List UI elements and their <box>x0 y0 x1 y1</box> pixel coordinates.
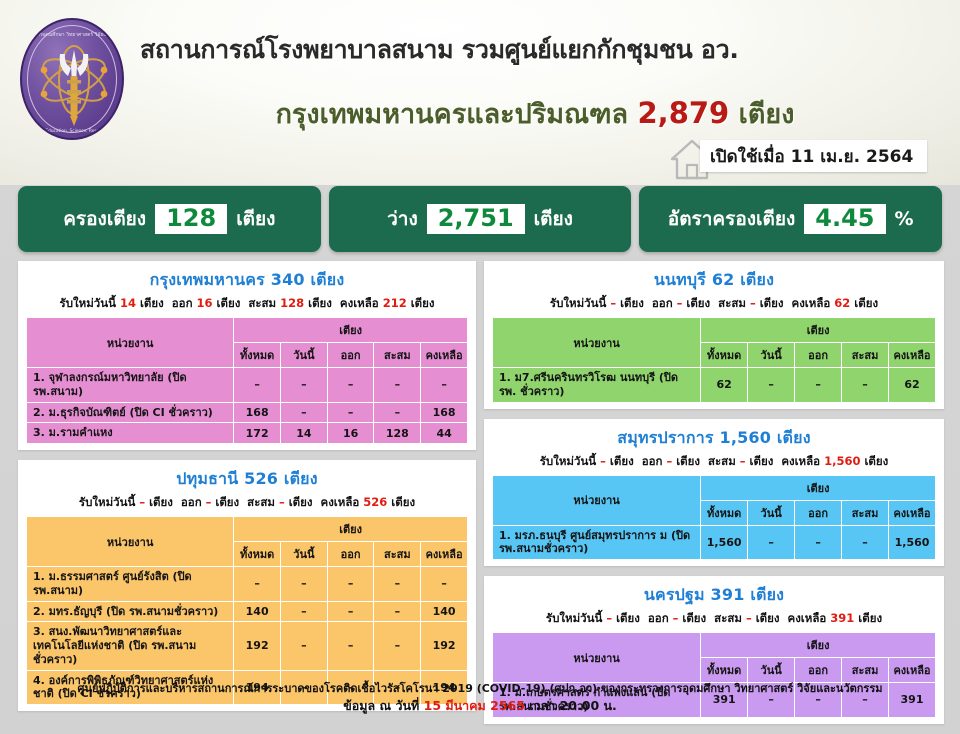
row-beds-today: 14 <box>281 423 328 444</box>
row-beds-today: – <box>281 567 328 602</box>
province-title-pathumthani: ปทุมธานี 526 เตียง <box>26 464 468 494</box>
row-beds-cum: – <box>374 601 421 622</box>
province-title-samutprakan: สมุทรปราการ 1,560 เตียง <box>492 423 936 453</box>
summary-left-nakhonpathom: คงเหลือ 391 เตียง <box>788 611 883 625</box>
col-subheader-1: วันนี้ <box>748 500 795 525</box>
page-title: สถานการณ์โรงพยาบาลสนาม รวมศูนย์แยกกักชุม… <box>140 30 940 70</box>
summary-out-nakhonpathom: ออก – เตียง <box>648 611 706 625</box>
row-beds-left: 192 <box>421 622 468 670</box>
row-beds-out: – <box>327 622 374 670</box>
row-beds-today: – <box>281 368 328 403</box>
row-beds-left: 140 <box>421 601 468 622</box>
col-subheader-2: ออก <box>795 500 842 525</box>
col-header-beds: เตียง <box>234 318 468 343</box>
summary-left-samutprakan: คงเหลือ 1,560 เตียง <box>781 454 888 468</box>
row-unit-name: 2. ม.ธุรกิจบัณฑิตย์ (ปิด CI ชั่วคราว) <box>27 402 234 423</box>
row-beds-all: 62 <box>701 368 748 403</box>
table-row: 1. ม.ธรรมศาสตร์ ศูนย์รังสิต (ปิด รพ.สนาม… <box>27 567 468 602</box>
row-beds-all: 140 <box>234 601 281 622</box>
svg-text:กระทรวงการอุดมศึกษา วิทยาศาสตร: กระทรวงการอุดมศึกษา วิทยาศาสตร์ วิจัยและ… <box>22 31 124 38</box>
col-header-beds: เตียง <box>701 475 936 500</box>
summary-new-nonthaburi: รับใหม่วันนี้ – เตียง <box>550 296 644 310</box>
col-subheader-2: ออก <box>795 658 842 683</box>
province-column-right: นนทบุรี 62 เตียงรับใหม่วันนี้ – เตียงออก… <box>484 261 944 734</box>
province-summary-nakhonpathom: รับใหม่วันนี้ – เตียงออก – เตียงสะสม – เ… <box>492 610 936 632</box>
row-beds-left: 62 <box>889 368 936 403</box>
subtitle-bed-count: 2,879 <box>638 96 730 130</box>
summary-out-samutprakan: ออก – เตียง <box>642 454 700 468</box>
summary-cum-pathumthani: สะสม – เตียง <box>247 495 312 509</box>
row-unit-name: 3. ม.รามคำแหง <box>27 423 234 444</box>
stat-rate-label: อัตราครองเตียง <box>668 204 795 234</box>
province-summary-samutprakan: รับใหม่วันนี้ – เตียงออก – เตียงสะสม – เ… <box>492 453 936 475</box>
table-row: 3. สนง.พัฒนาวิทยาศาสตร์และเทคโนโลยีแห่งช… <box>27 622 468 670</box>
row-beds-out: – <box>327 402 374 423</box>
footer-time-value: เวลา 20.00 น. <box>529 698 617 713</box>
subtitle-total-beds: กรุงเทพมหานครและปริมณฑล 2,879 เตียง <box>140 92 930 135</box>
svg-text:Ministry of Higher Education,: Ministry of Higher Education, Science, R… <box>22 128 124 134</box>
stat-available-unit: เตียง <box>534 204 573 234</box>
row-beds-left: – <box>421 368 468 403</box>
summary-out-nonthaburi: ออก – เตียง <box>652 296 710 310</box>
col-subheader-1: วันนี้ <box>748 343 795 368</box>
row-beds-out: – <box>327 567 374 602</box>
stat-available-beds: ว่าง 2,751 เตียง <box>329 186 632 252</box>
summary-new-pathumthani: รับใหม่วันนี้ – เตียง <box>79 495 173 509</box>
stat-occupied-beds: ครองเตียง 128 เตียง <box>18 186 321 252</box>
row-beds-left: 1,560 <box>889 525 936 560</box>
province-title-bangkok: กรุงเทพมหานคร 340 เตียง <box>26 265 468 295</box>
province-card-nonthaburi: นนทบุรี 62 เตียงรับใหม่วันนี้ – เตียงออก… <box>484 261 944 409</box>
summary-left-pathumthani: คงเหลือ 526 เตียง <box>321 495 416 509</box>
col-subheader-2: ออก <box>327 343 374 368</box>
stat-rate-unit: % <box>895 208 914 230</box>
summary-left-bangkok: คงเหลือ 212 เตียง <box>340 296 435 310</box>
bed-table-pathumthani: หน่วยงานเตียงทั้งหมดวันนี้ออกสะสมคงเหลือ… <box>26 516 468 705</box>
col-subheader-1: วันนี้ <box>748 658 795 683</box>
footer-data-timestamp: ข้อมูล ณ วันที่ 15 มีนาคม 2565 เวลา 20.0… <box>0 697 960 716</box>
row-beds-cum: 128 <box>374 423 421 444</box>
summary-new-nakhonpathom: รับใหม่วันนี้ – เตียง <box>546 611 640 625</box>
col-subheader-3: สะสม <box>842 343 889 368</box>
summary-out-pathumthani: ออก – เตียง <box>181 495 239 509</box>
province-summary-bangkok: รับใหม่วันนี้ 14 เตียงออก 16 เตียงสะสม 1… <box>26 295 468 317</box>
row-beds-left: 44 <box>421 423 468 444</box>
province-card-pathumthani: ปทุมธานี 526 เตียงรับใหม่วันนี้ – เตียงอ… <box>18 460 476 711</box>
subtitle-region-label: กรุงเทพมหานครและปริมณฑล <box>276 99 629 130</box>
col-subheader-0: ทั้งหมด <box>234 343 281 368</box>
row-beds-all: 1,560 <box>701 525 748 560</box>
row-beds-out: 16 <box>327 423 374 444</box>
row-beds-cum: – <box>374 402 421 423</box>
row-beds-today: – <box>281 622 328 670</box>
table-row: 2. มทร.ธัญบุรี (ปิด รพ.สนามชั่วคราว)140–… <box>27 601 468 622</box>
row-beds-out: – <box>327 601 374 622</box>
col-subheader-3: สะสม <box>374 343 421 368</box>
stat-available-value: 2,751 <box>427 204 525 234</box>
summary-stats-row: ครองเตียง 128 เตียง ว่าง 2,751 เตียง อัต… <box>0 186 960 252</box>
col-header-beds: เตียง <box>234 517 468 542</box>
col-subheader-0: ทั้งหมด <box>701 343 748 368</box>
row-unit-name: 1. ม.ธรรมศาสตร์ ศูนย์รังสิต (ปิด รพ.สนาม… <box>27 567 234 602</box>
col-subheader-0: ทั้งหมด <box>701 658 748 683</box>
col-header-unit: หน่วยงาน <box>493 318 701 368</box>
row-beds-left: 168 <box>421 402 468 423</box>
col-subheader-0: ทั้งหมด <box>701 500 748 525</box>
row-beds-cum: – <box>374 368 421 403</box>
col-subheader-4: คงเหลือ <box>889 500 936 525</box>
open-date-text: เปิดใช้เมื่อ 11 เม.ย. 2564 <box>710 143 913 170</box>
col-header-unit: หน่วยงาน <box>27 517 234 567</box>
col-subheader-0: ทั้งหมด <box>234 542 281 567</box>
dashboard-page: กระทรวงการอุดมศึกษา วิทยาศาสตร์ วิจัยและ… <box>0 0 960 720</box>
table-row: 1. มรภ.ธนบุรี ศูนย์สมุทรปราการ ม (ปิด รพ… <box>493 525 936 560</box>
table-row: 1. จุฬาลงกรณ์มหาวิทยาลัย (ปิด รพ.สนาม)––… <box>27 368 468 403</box>
stat-occupied-unit: เตียง <box>236 204 275 234</box>
table-row: 3. ม.รามคำแหง172141612844 <box>27 423 468 444</box>
bed-table-nonthaburi: หน่วยงานเตียงทั้งหมดวันนี้ออกสะสมคงเหลือ… <box>492 317 936 403</box>
col-subheader-1: วันนี้ <box>281 542 328 567</box>
summary-cum-nonthaburi: สะสม – เตียง <box>718 296 783 310</box>
summary-left-nonthaburi: คงเหลือ 62 เตียง <box>792 296 879 310</box>
col-header-unit: หน่วยงาน <box>27 318 234 368</box>
province-summary-pathumthani: รับใหม่วันนี้ – เตียงออก – เตียงสะสม – เ… <box>26 494 468 516</box>
col-subheader-2: ออก <box>795 343 842 368</box>
summary-new-samutprakan: รับใหม่วันนี้ – เตียง <box>540 454 634 468</box>
summary-cum-nakhonpathom: สะสม – เตียง <box>714 611 779 625</box>
footer-date-prefix: ข้อมูล ณ วันที่ <box>343 698 419 713</box>
table-row: 1. ม7.ศรีนครินทรวิโรฒ นนทบุรี (ปิด รพ. ช… <box>493 368 936 403</box>
row-unit-name: 2. มทร.ธัญบุรี (ปิด รพ.สนามชั่วคราว) <box>27 601 234 622</box>
province-card-bangkok: กรุงเทพมหานคร 340 เตียงรับใหม่วันนี้ 14 … <box>18 261 476 450</box>
header-banner: กระทรวงการอุดมศึกษา วิทยาศาสตร์ วิจัยและ… <box>0 0 960 185</box>
col-header-beds: เตียง <box>701 633 936 658</box>
row-beds-today: – <box>281 601 328 622</box>
summary-cum-samutprakan: สะสม – เตียง <box>708 454 773 468</box>
col-subheader-3: สะสม <box>842 500 889 525</box>
bed-table-bangkok: หน่วยงานเตียงทั้งหมดวันนี้ออกสะสมคงเหลือ… <box>26 317 468 444</box>
row-beds-all: – <box>234 567 281 602</box>
row-beds-cum: – <box>374 622 421 670</box>
summary-out-bangkok: ออก 16 เตียง <box>172 296 241 310</box>
row-beds-today: – <box>748 525 795 560</box>
footer-agency-line: ศูนย์ปฏิบัติการและบริหารสถานการณ์การระบา… <box>0 681 960 697</box>
row-unit-name: 1. มรภ.ธนบุรี ศูนย์สมุทรปราการ ม (ปิด รพ… <box>493 525 701 560</box>
stat-available-label: ว่าง <box>387 204 418 234</box>
subtitle-bed-unit: เตียง <box>739 99 795 130</box>
row-beds-out: – <box>327 368 374 403</box>
row-beds-today: – <box>281 402 328 423</box>
open-date-badge: เปิดใช้เมื่อ 11 เม.ย. 2564 <box>700 140 927 172</box>
col-header-beds: เตียง <box>701 318 936 343</box>
col-subheader-4: คงเหลือ <box>421 343 468 368</box>
row-beds-cum: – <box>842 368 889 403</box>
col-subheader-1: วันนี้ <box>281 343 328 368</box>
row-beds-cum: – <box>374 567 421 602</box>
col-header-unit: หน่วยงาน <box>493 633 701 683</box>
col-header-unit: หน่วยงาน <box>493 475 701 525</box>
footer: ศูนย์ปฏิบัติการและบริหารสถานการณ์การระบา… <box>0 681 960 716</box>
mhesi-ministry-emblem: กระทรวงการอุดมศึกษา วิทยาศาสตร์ วิจัยและ… <box>20 18 124 140</box>
table-row: 2. ม.ธุรกิจบัณฑิตย์ (ปิด CI ชั่วคราว)168… <box>27 402 468 423</box>
row-beds-cum: – <box>842 525 889 560</box>
summary-cum-bangkok: สะสม 128 เตียง <box>248 296 332 310</box>
stat-occupied-value: 128 <box>155 204 227 234</box>
stat-occupied-label: ครองเตียง <box>63 204 146 234</box>
province-summary-nonthaburi: รับใหม่วันนี้ – เตียงออก – เตียงสะสม – เ… <box>492 295 936 317</box>
col-subheader-4: คงเหลือ <box>889 343 936 368</box>
stat-rate-value: 4.45 <box>804 204 885 234</box>
row-beds-today: – <box>748 368 795 403</box>
col-subheader-2: ออก <box>327 542 374 567</box>
row-beds-out: – <box>795 525 842 560</box>
province-card-samutprakan: สมุทรปราการ 1,560 เตียงรับใหม่วันนี้ – เ… <box>484 419 944 567</box>
row-beds-left: – <box>421 567 468 602</box>
stat-occupancy-rate: อัตราครองเตียง 4.45 % <box>639 186 942 252</box>
row-beds-all: 172 <box>234 423 281 444</box>
row-beds-all: 192 <box>234 622 281 670</box>
row-beds-all: 168 <box>234 402 281 423</box>
row-unit-name: 3. สนง.พัฒนาวิทยาศาสตร์และเทคโนโลยีแห่งช… <box>27 622 234 670</box>
summary-new-bangkok: รับใหม่วันนี้ 14 เตียง <box>60 296 164 310</box>
row-beds-out: – <box>795 368 842 403</box>
province-column-left: กรุงเทพมหานคร 340 เตียงรับใหม่วันนี้ 14 … <box>18 261 476 721</box>
row-unit-name: 1. จุฬาลงกรณ์มหาวิทยาลัย (ปิด รพ.สนาม) <box>27 368 234 403</box>
province-title-nakhonpathom: นครปฐม 391 เตียง <box>492 580 936 610</box>
col-subheader-3: สะสม <box>374 542 421 567</box>
footer-date-value: 15 มีนาคม 2565 <box>424 698 525 713</box>
bed-table-samutprakan: หน่วยงานเตียงทั้งหมดวันนี้ออกสะสมคงเหลือ… <box>492 475 936 561</box>
row-unit-name: 1. ม7.ศรีนครินทรวิโรฒ นนทบุรี (ปิด รพ. ช… <box>493 368 701 403</box>
province-title-nonthaburi: นนทบุรี 62 เตียง <box>492 265 936 295</box>
row-beds-all: – <box>234 368 281 403</box>
trident-atom-icon: กระทรวงการอุดมศึกษา วิทยาศาสตร์ วิจัยและ… <box>22 20 124 140</box>
col-subheader-3: สะสม <box>842 658 889 683</box>
col-subheader-4: คงเหลือ <box>889 658 936 683</box>
col-subheader-4: คงเหลือ <box>421 542 468 567</box>
